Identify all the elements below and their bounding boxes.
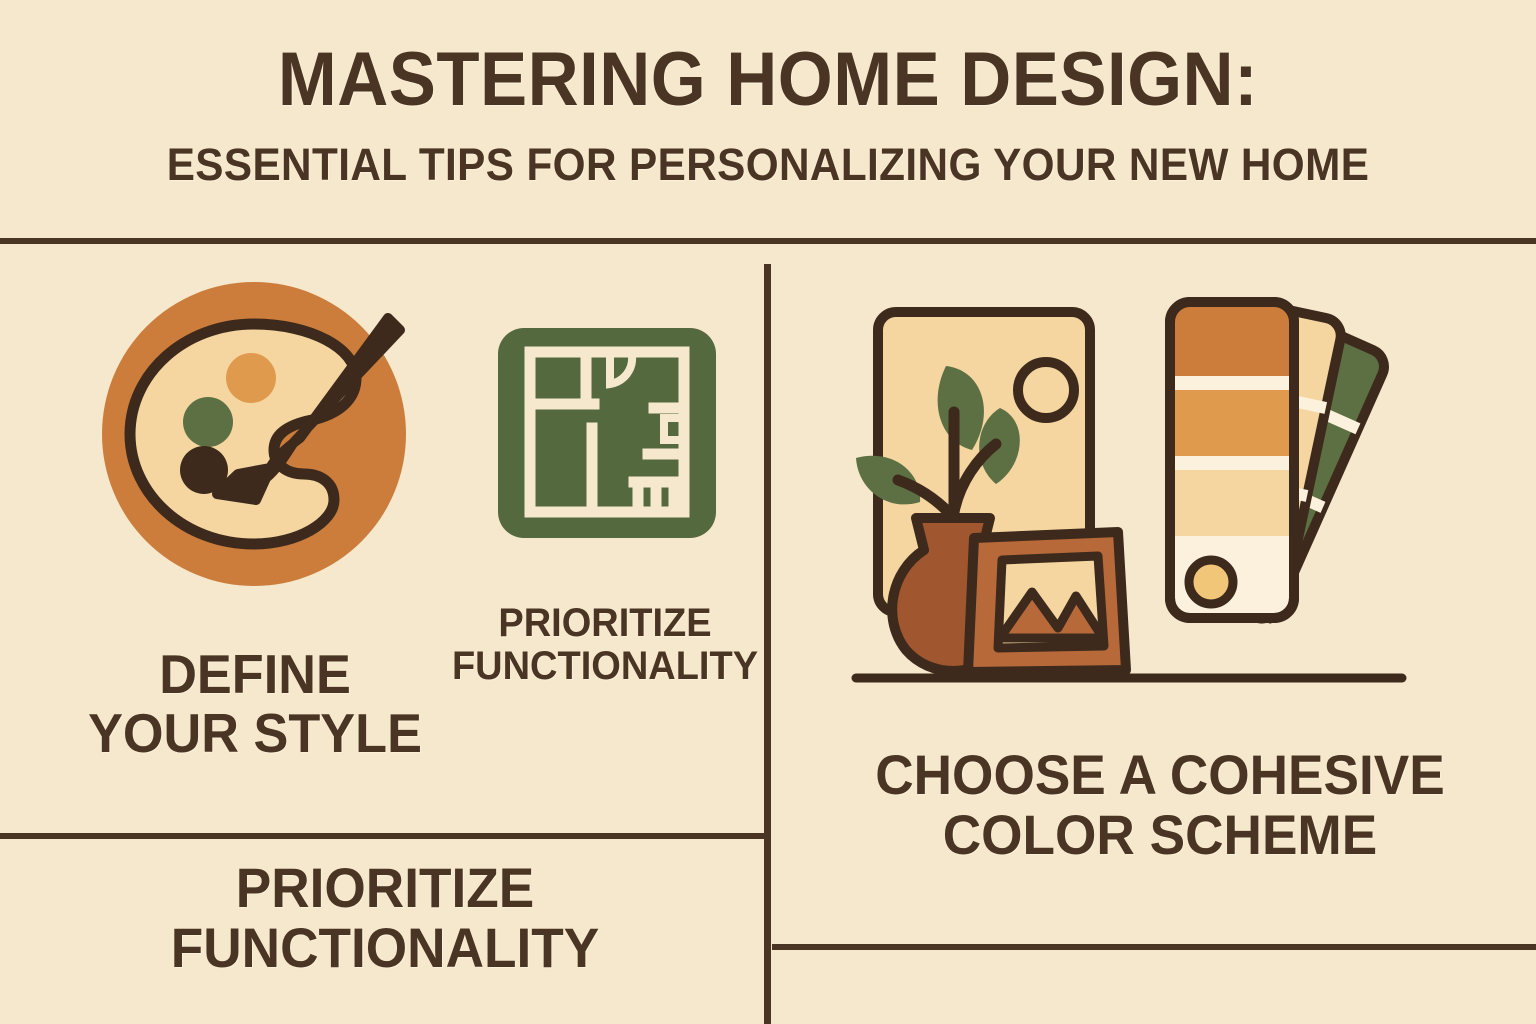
framed-picture-icon <box>968 532 1126 672</box>
divider-right-bottom-rule <box>772 944 1536 950</box>
label-line-1: CHOOSE A COHESIVE <box>818 745 1502 805</box>
label-line-2: COLOR SCHEME <box>818 805 1502 865</box>
divider-center-vertical-rule <box>764 264 771 1024</box>
divider-left-bottom-rule <box>0 833 766 839</box>
section-label-choose-a-cohesive-color-scheme: CHOOSE A COHESIVE COLOR SCHEME <box>818 745 1502 866</box>
palette-dab-orange <box>226 353 276 403</box>
color-scheme-illustration <box>850 286 1450 698</box>
section-label-prioritize-functionality: PRIORITIZE FUNCTIONALITY <box>48 858 723 979</box>
label-line-2: FUNCTIONALITY <box>448 645 762 688</box>
floor-plan-icon <box>494 322 720 554</box>
section-label-define-your-style: DEFINE YOUR STYLE <box>51 645 460 764</box>
palette-dab-green <box>183 397 233 447</box>
page-title: MASTERING HOME DESIGN: <box>54 42 1482 118</box>
infographic-root: MASTERING HOME DESIGN: ESSENTIAL TIPS FO… <box>0 0 1536 1024</box>
divider-header-rule <box>0 238 1536 244</box>
label-line-2: FUNCTIONALITY <box>48 918 723 978</box>
header: MASTERING HOME DESIGN: ESSENTIAL TIPS FO… <box>0 0 1536 238</box>
label-line-1: DEFINE <box>51 645 460 704</box>
color-swatch-fan-icon <box>1170 299 1390 624</box>
label-line-1: PRIORITIZE <box>448 602 762 645</box>
label-line-1: PRIORITIZE <box>48 858 723 918</box>
paint-palette-icon <box>88 282 428 604</box>
section-label-prioritize-functionality-small: PRIORITIZE FUNCTIONALITY <box>448 602 762 688</box>
label-line-2: YOUR STYLE <box>51 704 460 763</box>
page-subtitle: ESSENTIAL TIPS FOR PERSONALIZING YOUR NE… <box>46 142 1490 187</box>
